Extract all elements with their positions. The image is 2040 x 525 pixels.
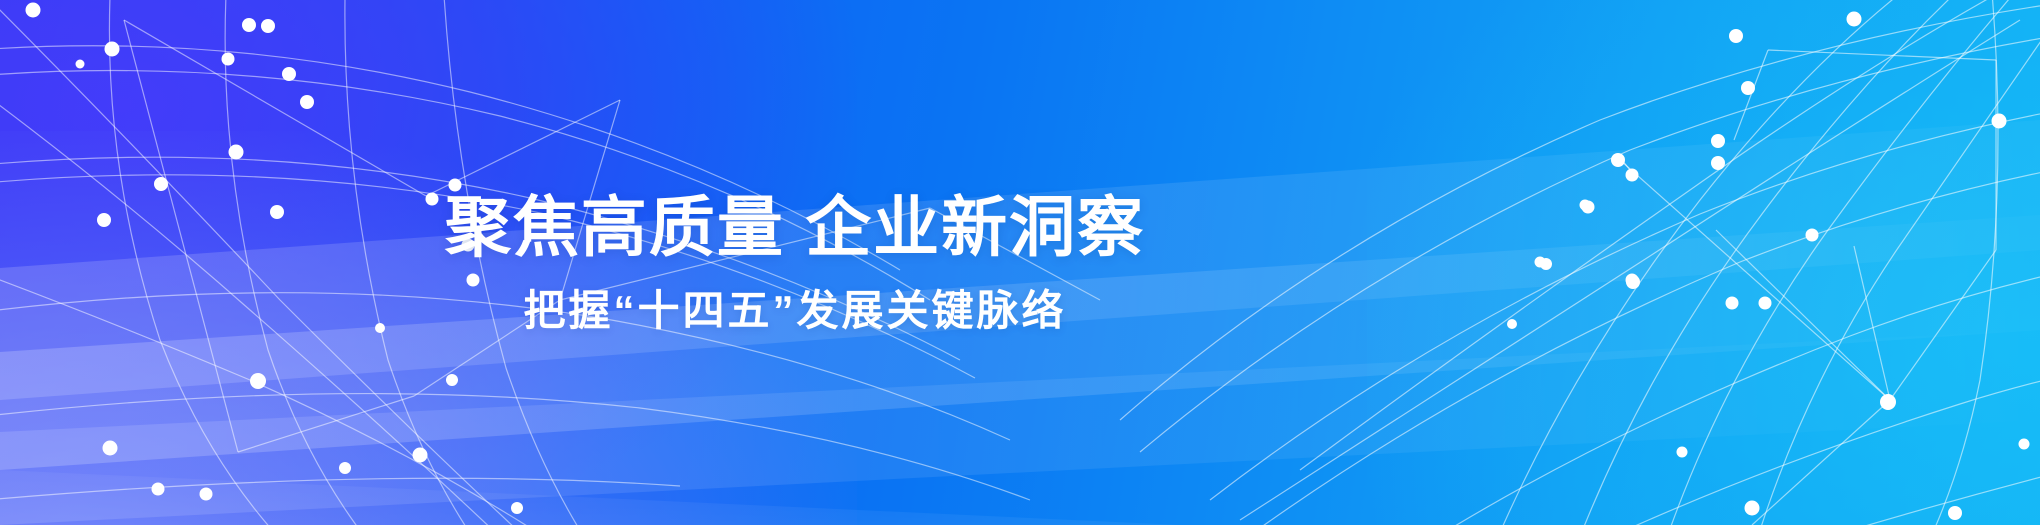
promo-banner: 聚焦高质量 企业新洞察 把握“十四五”发展关键脉络 (0, 0, 2040, 525)
globe-wireframe-right (0, 0, 2040, 525)
